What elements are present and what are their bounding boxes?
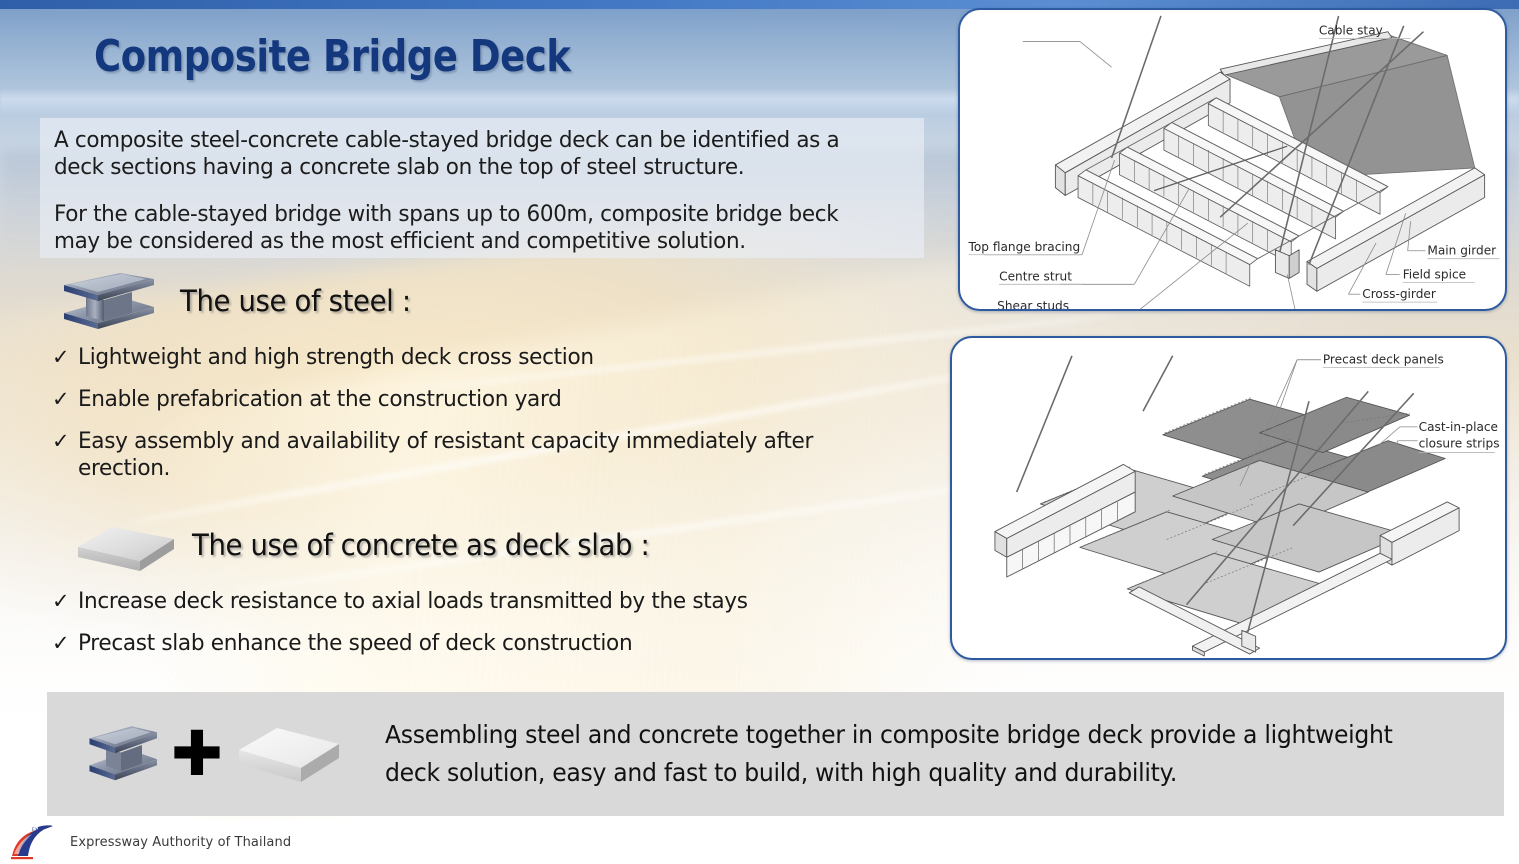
check-icon: ✓ — [52, 630, 78, 657]
bullet-item: ✓ Easy assembly and availability of resi… — [52, 428, 922, 482]
expressway-authority-logo: EXAT — [8, 822, 56, 862]
svg-text:EXAT: EXAT — [32, 827, 44, 833]
concrete-slab-icon — [235, 722, 343, 786]
section-steel: The use of steel : ✓ Lightweight and hig… — [58, 272, 938, 497]
section-steel-heading: The use of steel : — [180, 284, 411, 318]
diagram-panel-steel-structure: Cable stay Top flange bracing Centre str… — [958, 8, 1507, 311]
intro-paragraph-1: A composite steel-concrete cable-stayed … — [54, 127, 871, 181]
diagram-label: Shear studs — [997, 299, 1069, 309]
check-icon: ✓ — [52, 386, 78, 413]
check-icon: ✓ — [52, 588, 78, 615]
conclusion-icons: ✚ — [47, 715, 343, 793]
bullet-text: Lightweight and high strength deck cross… — [78, 344, 594, 371]
bullet-item: ✓ Increase deck resistance to axial load… — [52, 588, 938, 615]
intro-paragraph-2: For the cable-stayed bridge with spans u… — [54, 201, 871, 255]
section-concrete-heading: The use of concrete as deck slab : — [192, 528, 649, 562]
section-concrete-bullets: ✓ Increase deck resistance to axial load… — [52, 588, 938, 657]
conclusion-text: Assembling steel and concrete together i… — [385, 716, 1403, 792]
steel-i-beam-icon — [58, 273, 162, 329]
bullet-text: Easy assembly and availability of resist… — [78, 428, 888, 482]
diagram-label: Cross-girder — [1362, 287, 1436, 301]
plus-icon: ✚ — [171, 723, 223, 785]
footer: EXAT Expressway Authority of Thailand — [0, 820, 1519, 864]
section-concrete-header: The use of concrete as deck slab : — [58, 516, 938, 574]
check-icon: ✓ — [52, 344, 78, 371]
bullet-text: Increase deck resistance to axial loads … — [78, 588, 748, 615]
bullet-text: Precast slab enhance the speed of deck c… — [78, 630, 632, 657]
bullet-item: ✓ Lightweight and high strength deck cro… — [52, 344, 938, 371]
section-concrete: The use of concrete as deck slab : ✓ Inc… — [58, 516, 938, 672]
diagram-label: Centre strut — [999, 269, 1072, 283]
diagram-panel-precast-panels: Precast deck panels Cast-in-place closur… — [950, 336, 1507, 660]
diagram-label: Field spice — [1403, 267, 1466, 281]
diagram-label: closure strips — [1419, 437, 1500, 451]
diagram-label: Cast-in-place — [1419, 420, 1498, 434]
section-steel-bullets: ✓ Lightweight and high strength deck cro… — [52, 344, 938, 482]
page-title: Composite Bridge Deck — [94, 31, 570, 82]
footer-organization-name: Expressway Authority of Thailand — [70, 835, 291, 850]
diagram-label: Cable stay — [1319, 24, 1383, 38]
bullet-item: ✓ Precast slab enhance the speed of deck… — [52, 630, 938, 657]
bullet-text: Enable prefabrication at the constructio… — [78, 386, 561, 413]
concrete-slab-icon — [76, 517, 176, 573]
diagram-label: Main girder — [1427, 244, 1496, 258]
diagram-label: Top flange bracing — [968, 240, 1081, 254]
conclusion-box: ✚ Assem — [47, 692, 1504, 816]
bullet-item: ✓ Enable prefabrication at the construct… — [52, 386, 938, 413]
section-steel-header: The use of steel : — [58, 272, 938, 330]
check-icon: ✓ — [52, 428, 78, 455]
intro-text-box: A composite steel-concrete cable-stayed … — [40, 118, 924, 258]
steel-i-beam-icon — [85, 715, 163, 793]
diagram-label: Precast deck panels — [1323, 353, 1444, 367]
slide-root: Composite Bridge Deck A composite steel-… — [0, 0, 1519, 864]
